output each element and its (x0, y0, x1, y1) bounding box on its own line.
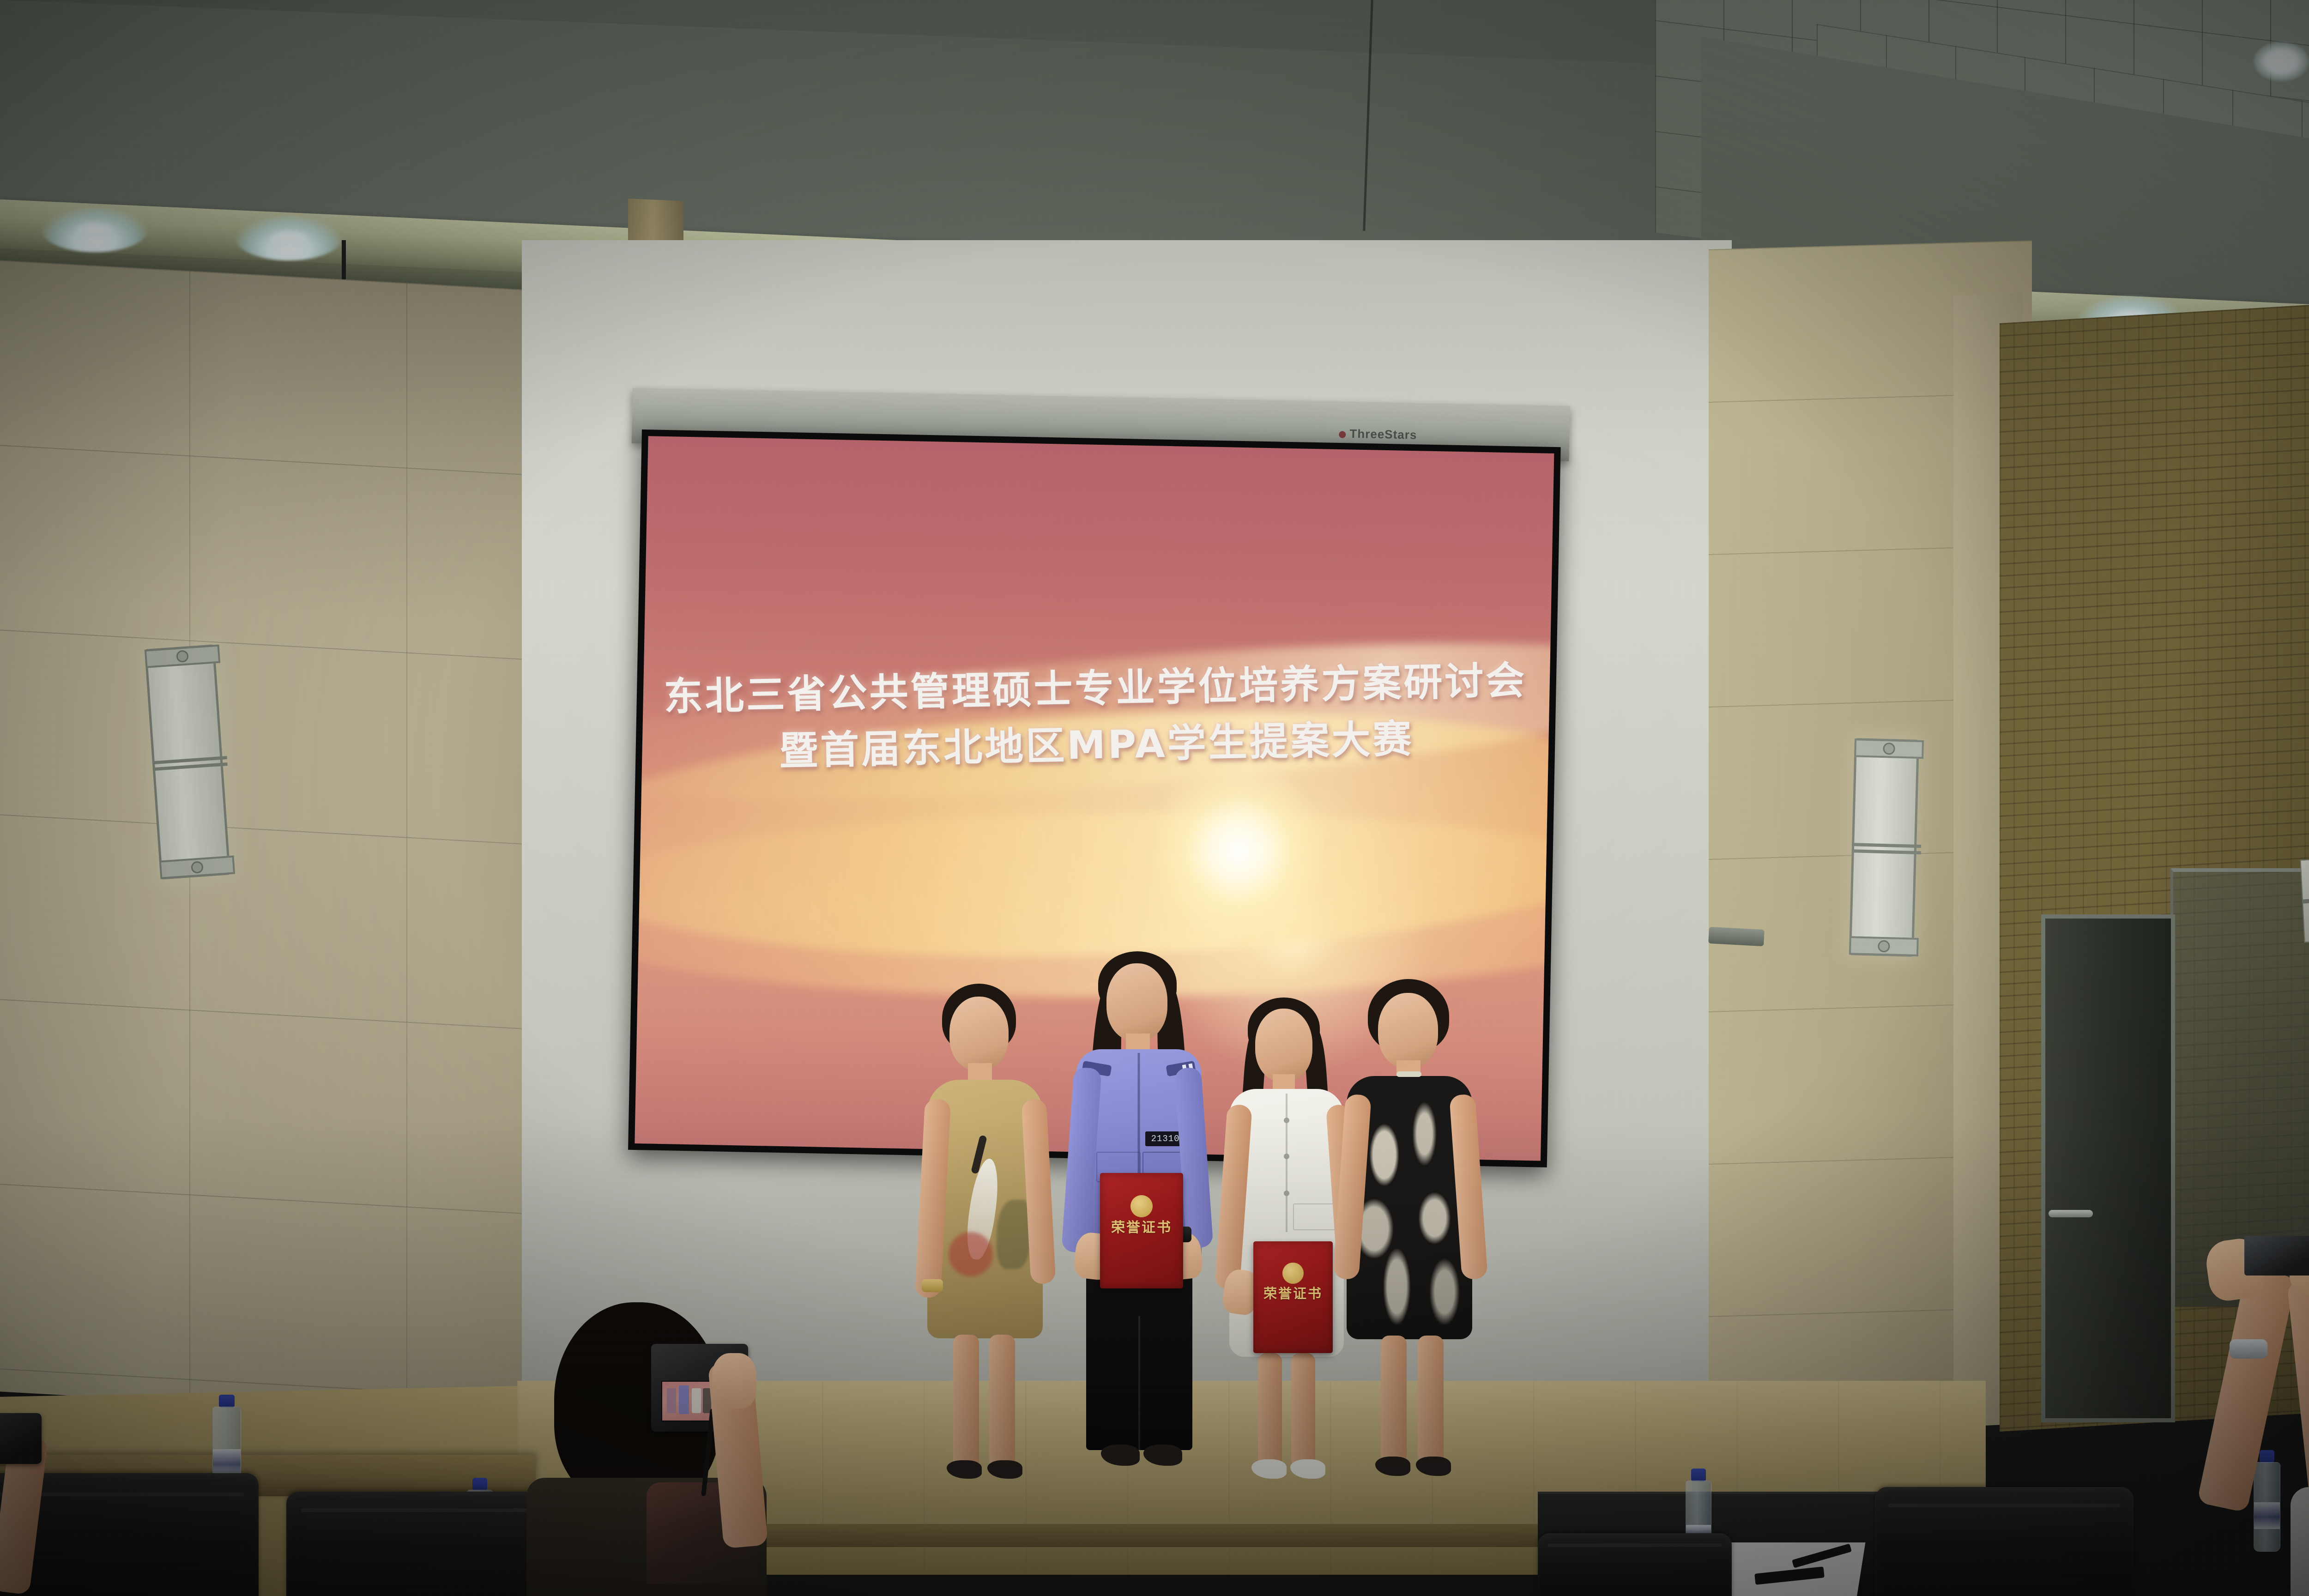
auditorium-scene: ThreeStars 东北三省公共管理硕士专业学位培养方案研讨会 暨首届东北地区… (0, 0, 2309, 1596)
leg-right (989, 1335, 1015, 1469)
certificate-emblem-icon (1130, 1195, 1153, 1217)
slide-title: 东北三省公共管理硕士专业学位培养方案研讨会 暨首届东北地区MPA学生提案大赛 (642, 655, 1550, 779)
dress-button (1284, 1154, 1289, 1159)
compact-camera (2244, 1236, 2309, 1276)
door-handle[interactable] (2049, 1210, 2093, 1217)
shoe-left (947, 1460, 982, 1479)
leg-left (1381, 1336, 1407, 1464)
shoe-right (1416, 1457, 1451, 1476)
certificate-emblem-icon (1282, 1263, 1304, 1284)
leaf-motif-icon (997, 1200, 1030, 1269)
ceiling-downlight-icon (2254, 42, 2309, 81)
shoe-right (1290, 1459, 1325, 1479)
certificate-title: 荣誉证书 (1253, 1283, 1333, 1302)
photographer-hand (712, 1353, 756, 1409)
audience-chair[interactable] (1538, 1533, 1732, 1596)
wristwatch (2230, 1339, 2267, 1359)
dress-button (1284, 1191, 1289, 1196)
partial-camera (0, 1413, 42, 1464)
stage-person-awardee-officer: 2131099 荣誉证书 (1062, 951, 1215, 1482)
shoe-left (1101, 1445, 1140, 1466)
dress-pocket (1293, 1203, 1336, 1230)
dress-button (1284, 1118, 1289, 1123)
leg-right (1418, 1336, 1444, 1464)
audience-partial-left (0, 1409, 92, 1596)
audience-photographer-right (2152, 1210, 2309, 1596)
shoe-left (1251, 1459, 1287, 1479)
leg-left (1258, 1353, 1282, 1468)
face (949, 997, 1009, 1070)
certificate-held-white-dress: 荣誉证书 (1253, 1241, 1333, 1353)
brand-dot-icon (1339, 431, 1346, 438)
slide-title-line-1: 东北三省公共管理硕士专业学位培养方案研讨会 (642, 655, 1549, 722)
floral-motif-icon (949, 1232, 993, 1276)
certificate-held-officer: 荣誉证书 (1100, 1173, 1183, 1288)
shoe-right (1143, 1445, 1182, 1466)
shoe-right (987, 1460, 1022, 1479)
camera-lcd-screen (661, 1381, 716, 1421)
stage-person-presenter-left (919, 984, 1058, 1482)
face (1106, 963, 1167, 1041)
bottle-cap (1691, 1469, 1705, 1481)
leg-right (1291, 1353, 1315, 1468)
audience-chair[interactable] (1875, 1487, 2134, 1596)
shoe-left (1375, 1457, 1410, 1476)
wall-sconce-right (1849, 738, 1919, 957)
face (1255, 1009, 1312, 1082)
certificate-title: 荣誉证书 (1100, 1216, 1183, 1236)
stage-person-presenter-right (1339, 979, 1487, 1487)
photographer-shirt-sleeve (2291, 1487, 2309, 1596)
audience-photographer-left (499, 1293, 785, 1596)
face (1378, 993, 1438, 1068)
wall-bracket-fixture (1708, 927, 1765, 946)
leg-left (953, 1335, 979, 1469)
necklace (1396, 1071, 1421, 1077)
photographer-arm-left (2197, 1267, 2297, 1513)
bottle-cap (219, 1395, 235, 1408)
bottle-cap (472, 1478, 487, 1491)
screen-brand-label: ThreeStars (1339, 426, 1417, 442)
dress-placket (1286, 1094, 1287, 1232)
wristwatch (922, 1279, 943, 1292)
